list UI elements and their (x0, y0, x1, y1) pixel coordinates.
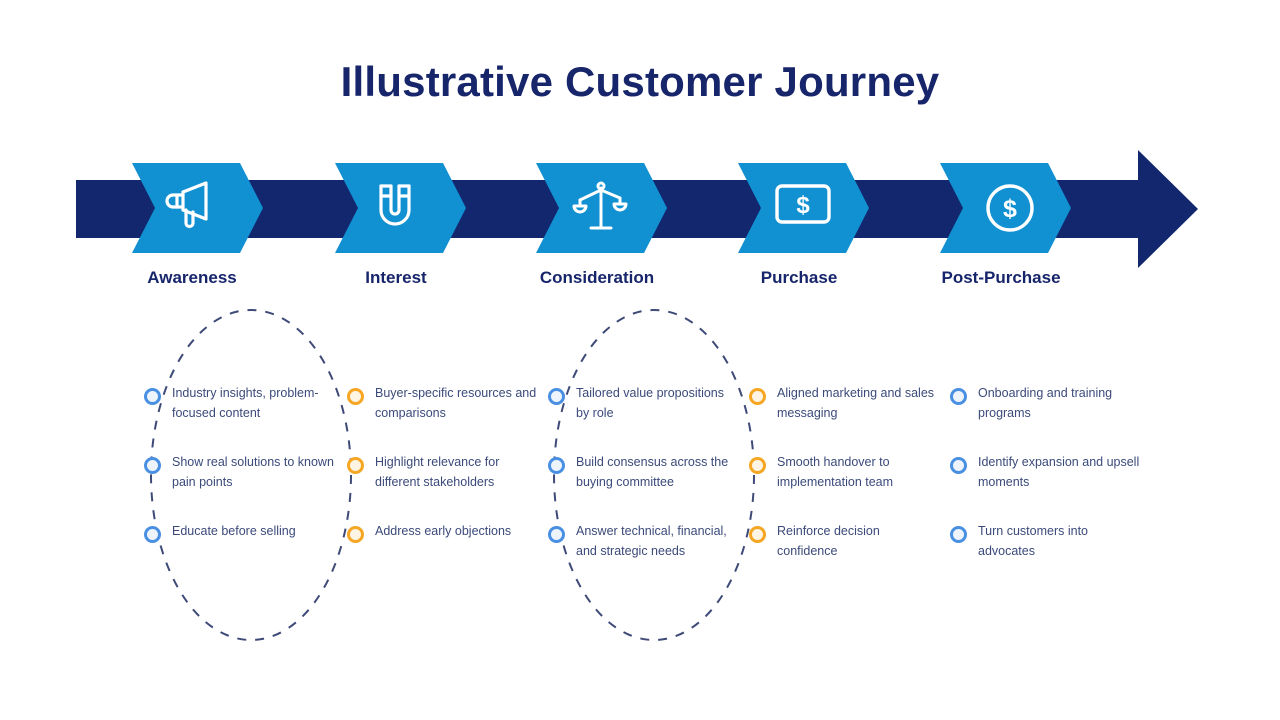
list-item-text: Tailored value propositions by role (576, 384, 738, 423)
bullet-marker-icon (347, 388, 364, 405)
list-item-text: Buyer-specific resources and comparisons (375, 384, 537, 423)
bullet-marker-icon (548, 388, 565, 405)
journey-arrow-band: $ $ (0, 140, 1280, 280)
list-item-text: Turn customers into advocates (978, 522, 1140, 561)
stage-label-purchase: Purchase (761, 268, 838, 288)
bullet-marker-icon (347, 457, 364, 474)
bullet-marker-icon (749, 457, 766, 474)
list-item-text: Aligned marketing and sales messaging (777, 384, 939, 423)
list-item-text: Educate before selling (172, 522, 334, 542)
bullet-marker-icon (144, 526, 161, 543)
stage-label-post-purchase: Post-Purchase (941, 268, 1060, 288)
stage-label-awareness: Awareness (147, 268, 236, 288)
bullet-marker-icon (749, 526, 766, 543)
bullet-marker-icon (950, 388, 967, 405)
list-item-text: Show real solutions to known pain points (172, 453, 334, 492)
bullet-marker-icon (347, 526, 364, 543)
bullet-marker-icon (548, 526, 565, 543)
bullet-marker-icon (548, 457, 565, 474)
list-item-text: Smooth handover to implementation team (777, 453, 939, 492)
list-item-text: Industry insights, problem-focused conte… (172, 384, 334, 423)
svg-text:$: $ (1003, 195, 1017, 223)
journey-loop-group (0, 0, 1280, 720)
band-arrowhead (1138, 150, 1198, 268)
list-item-text: Reinforce decision confidence (777, 522, 939, 561)
bullet-marker-icon (950, 526, 967, 543)
bullet-marker-icon (950, 457, 967, 474)
bullet-marker-icon (749, 388, 766, 405)
list-item-text: Answer technical, financial, and strateg… (576, 522, 738, 561)
page-title: Illustrative Customer Journey (0, 58, 1280, 106)
list-item-text: Onboarding and training programs (978, 384, 1140, 423)
bullet-marker-icon (144, 388, 161, 405)
list-item-text: Address early objections (375, 522, 537, 542)
bullet-marker-icon (144, 457, 161, 474)
list-item-text: Highlight relevance for different stakeh… (375, 453, 537, 492)
svg-text:$: $ (796, 192, 810, 219)
list-item-text: Identify expansion and upsell moments (978, 453, 1140, 492)
stage-label-consideration: Consideration (540, 268, 654, 288)
list-item-text: Build consensus across the buying commit… (576, 453, 738, 492)
stage-label-interest: Interest (365, 268, 426, 288)
